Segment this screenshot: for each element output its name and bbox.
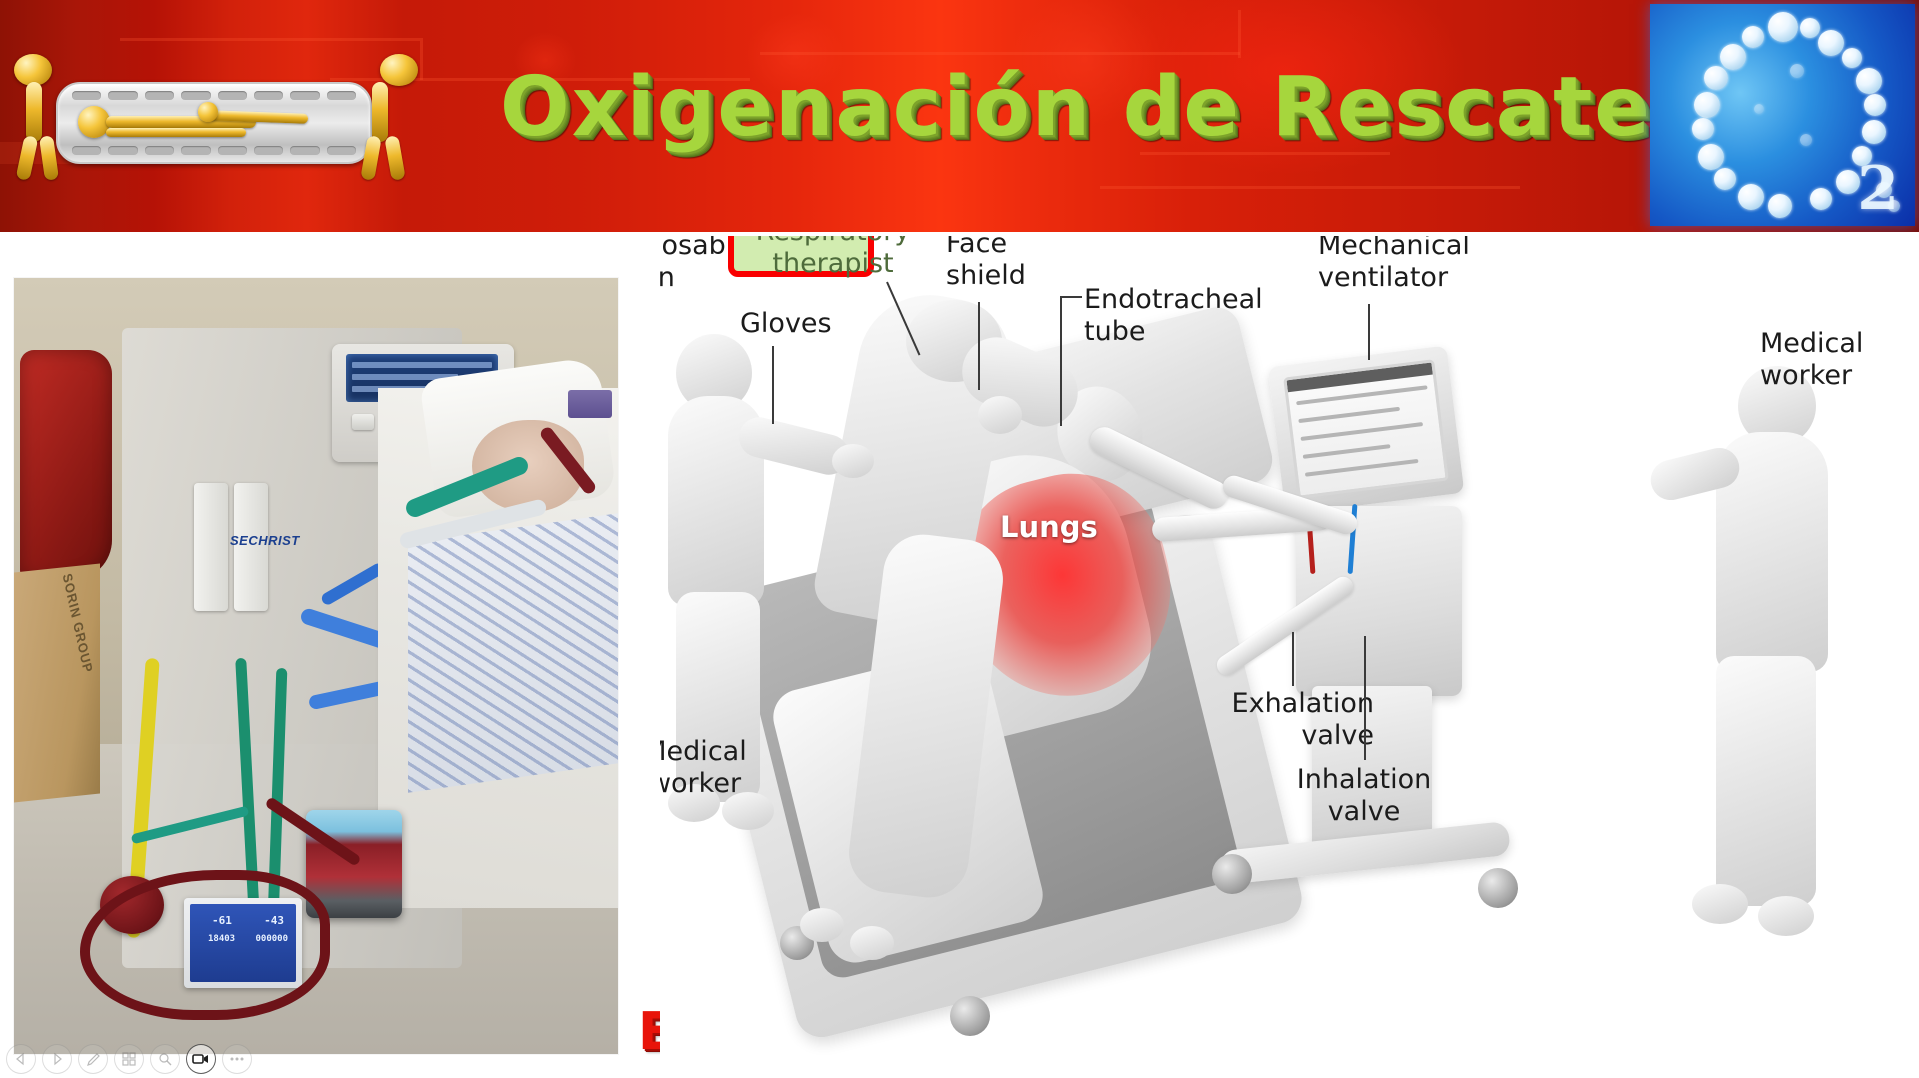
- circuit-trace: [760, 52, 1240, 55]
- patient-foot: [850, 926, 894, 960]
- leader-endotracheal-tube-h: [1060, 296, 1082, 298]
- ecmo-photo-image: SORIN GROUP SECHRIST: [14, 278, 618, 1054]
- bearer-body-left-icon: [26, 82, 42, 142]
- leader-mechanical-ventilator: [1368, 304, 1370, 360]
- purple-marker: [568, 390, 612, 418]
- bearer-leg-left-icon: [16, 135, 39, 181]
- circuit-trace: [1238, 10, 1241, 58]
- label-mechanical-ventilator: Mechanical ventilator: [1318, 236, 1470, 294]
- label-face-shield: Face shield: [946, 236, 1026, 292]
- patient-joint-icon: [198, 102, 218, 122]
- respiratory-therapist-hand: [978, 396, 1022, 434]
- emergency-bag: [20, 350, 112, 580]
- video-camera-icon[interactable]: [186, 1044, 216, 1074]
- patient-arm-icon: [106, 128, 246, 137]
- presentation-control-bar[interactable]: [2, 1042, 256, 1076]
- ventilator-intubation-diagram: Lungs: [660, 236, 1919, 1078]
- bearer-head-right-icon: [380, 54, 418, 86]
- circuit-trace: [120, 38, 420, 41]
- presentation-slide: Oxigenación de Rescate: [0, 0, 1919, 1078]
- stretcher-rescue-icon: [8, 52, 428, 187]
- label-respiratory-therapist: Respiratory therapist: [728, 236, 938, 280]
- label-medical-worker-left: Medical worker: [660, 736, 780, 800]
- pen-icon[interactable]: [78, 1044, 108, 1074]
- patient-gown: [408, 513, 618, 793]
- ventilator-wheel: [1212, 854, 1252, 894]
- circuit-trace: [1100, 186, 1520, 189]
- ellipsis-icon[interactable]: [222, 1044, 252, 1074]
- grid-icon[interactable]: [114, 1044, 144, 1074]
- lungs-label: Lungs: [1000, 510, 1098, 544]
- ventilator-wheel: [1478, 868, 1518, 908]
- stretcher-plate: [56, 82, 372, 164]
- page-title: Oxigenación de Rescate: [500, 60, 1630, 155]
- chevron-left-icon[interactable]: [6, 1044, 36, 1074]
- oxygen-bubbles-icon: 2: [1650, 4, 1915, 226]
- slide-header: Oxigenación de Rescate: [0, 0, 1919, 232]
- leader-inhalation-valve: [1364, 636, 1366, 760]
- chevron-right-icon[interactable]: [42, 1044, 72, 1074]
- ecmo-photo: SORIN GROUP SECHRIST: [14, 278, 618, 1054]
- leader-face-shield: [978, 302, 980, 390]
- equipment-box: SORIN GROUP: [14, 563, 100, 802]
- leader-gloves: [772, 346, 774, 424]
- medical-worker-right-foot: [1692, 884, 1748, 924]
- magnifier-icon[interactable]: [150, 1044, 180, 1074]
- ventilator-waveform-screen: [1283, 359, 1449, 499]
- plate-slots: [72, 146, 356, 155]
- equipment-box-label: SORIN GROUP: [60, 572, 96, 676]
- bearer-leg-right2-icon: [384, 135, 405, 181]
- ecmo-circuit: -61 -43 18403 000000: [88, 810, 418, 1040]
- label-exhalation-valve: Exhalation valve: [1194, 688, 1374, 752]
- leader-endotracheal-tube-v: [1060, 296, 1062, 426]
- label-endotracheal-tube: Endotracheal tube: [1084, 284, 1263, 348]
- medical-worker-left-hand: [832, 444, 874, 478]
- patient-foot: [800, 908, 844, 942]
- device-brand-label: SECHRIST: [230, 533, 294, 553]
- o2-subscript: 2: [1857, 154, 1899, 224]
- label-medical-worker-right: Medical worker: [1760, 328, 1863, 392]
- bed-wheel: [950, 996, 990, 1036]
- plate-slots: [72, 91, 356, 100]
- blue-tube: [320, 561, 387, 606]
- oxygen-flowmeter: [194, 483, 228, 611]
- label-inhalation-valve: Inhalation valve: [1274, 764, 1454, 828]
- medical-worker-right-foot: [1758, 896, 1814, 936]
- sweep-gas-tubing: [131, 806, 250, 845]
- leader-exhalation-valve: [1292, 632, 1294, 686]
- bearer-body-right-icon: [372, 82, 388, 142]
- label-gloves: Gloves: [740, 308, 832, 340]
- medical-worker-right-legs: [1716, 656, 1816, 906]
